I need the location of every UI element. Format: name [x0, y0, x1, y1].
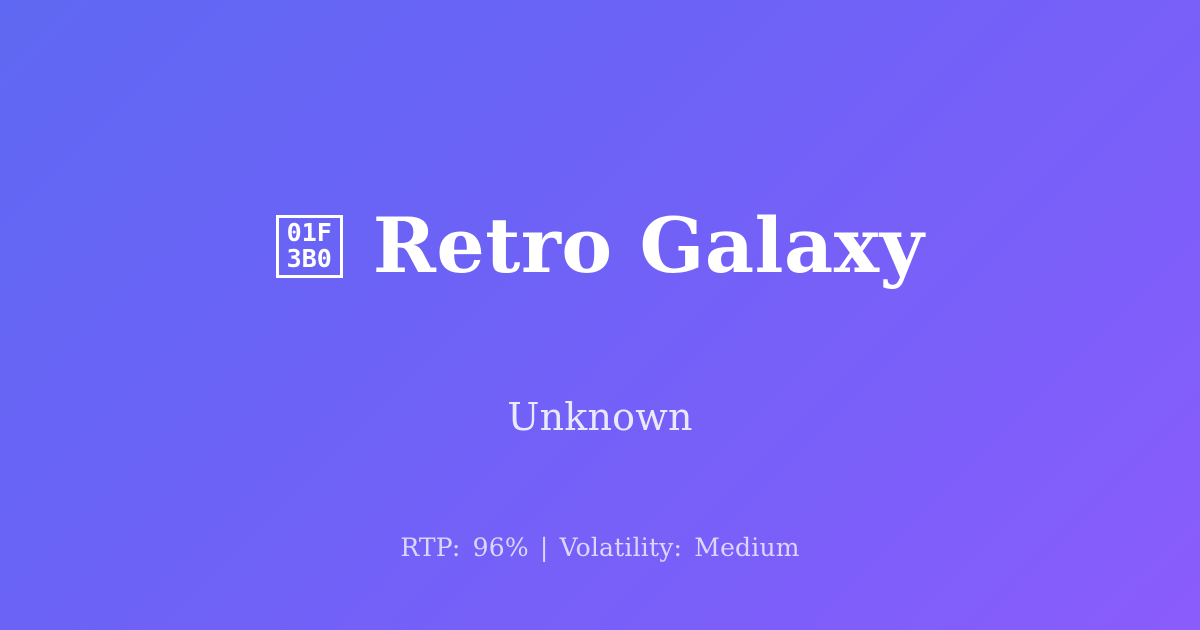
hero-block: 01F 3B0 Retro Galaxy Unknown: [0, 153, 1200, 439]
provider-name: Unknown: [507, 395, 692, 439]
rtp-value: 96%: [473, 533, 529, 563]
title-row: 01F 3B0 Retro Galaxy: [276, 153, 925, 339]
rtp-label: RTP:: [400, 533, 460, 563]
page-title: Retro Galaxy: [373, 204, 925, 288]
volatility-label: Volatility:: [560, 533, 683, 563]
slot-machine-icon: 01F 3B0: [276, 215, 343, 278]
meta-separator: |: [534, 533, 555, 563]
codepoint-line-bottom: 3B0: [287, 246, 332, 272]
game-og-card: 01F 3B0 Retro Galaxy Unknown RTP: 96% | …: [0, 0, 1200, 630]
meta-strip: RTP: 96% | Volatility: Medium: [0, 533, 1200, 563]
volatility-value: Medium: [694, 533, 799, 563]
codepoint-line-top: 01F: [287, 220, 332, 246]
